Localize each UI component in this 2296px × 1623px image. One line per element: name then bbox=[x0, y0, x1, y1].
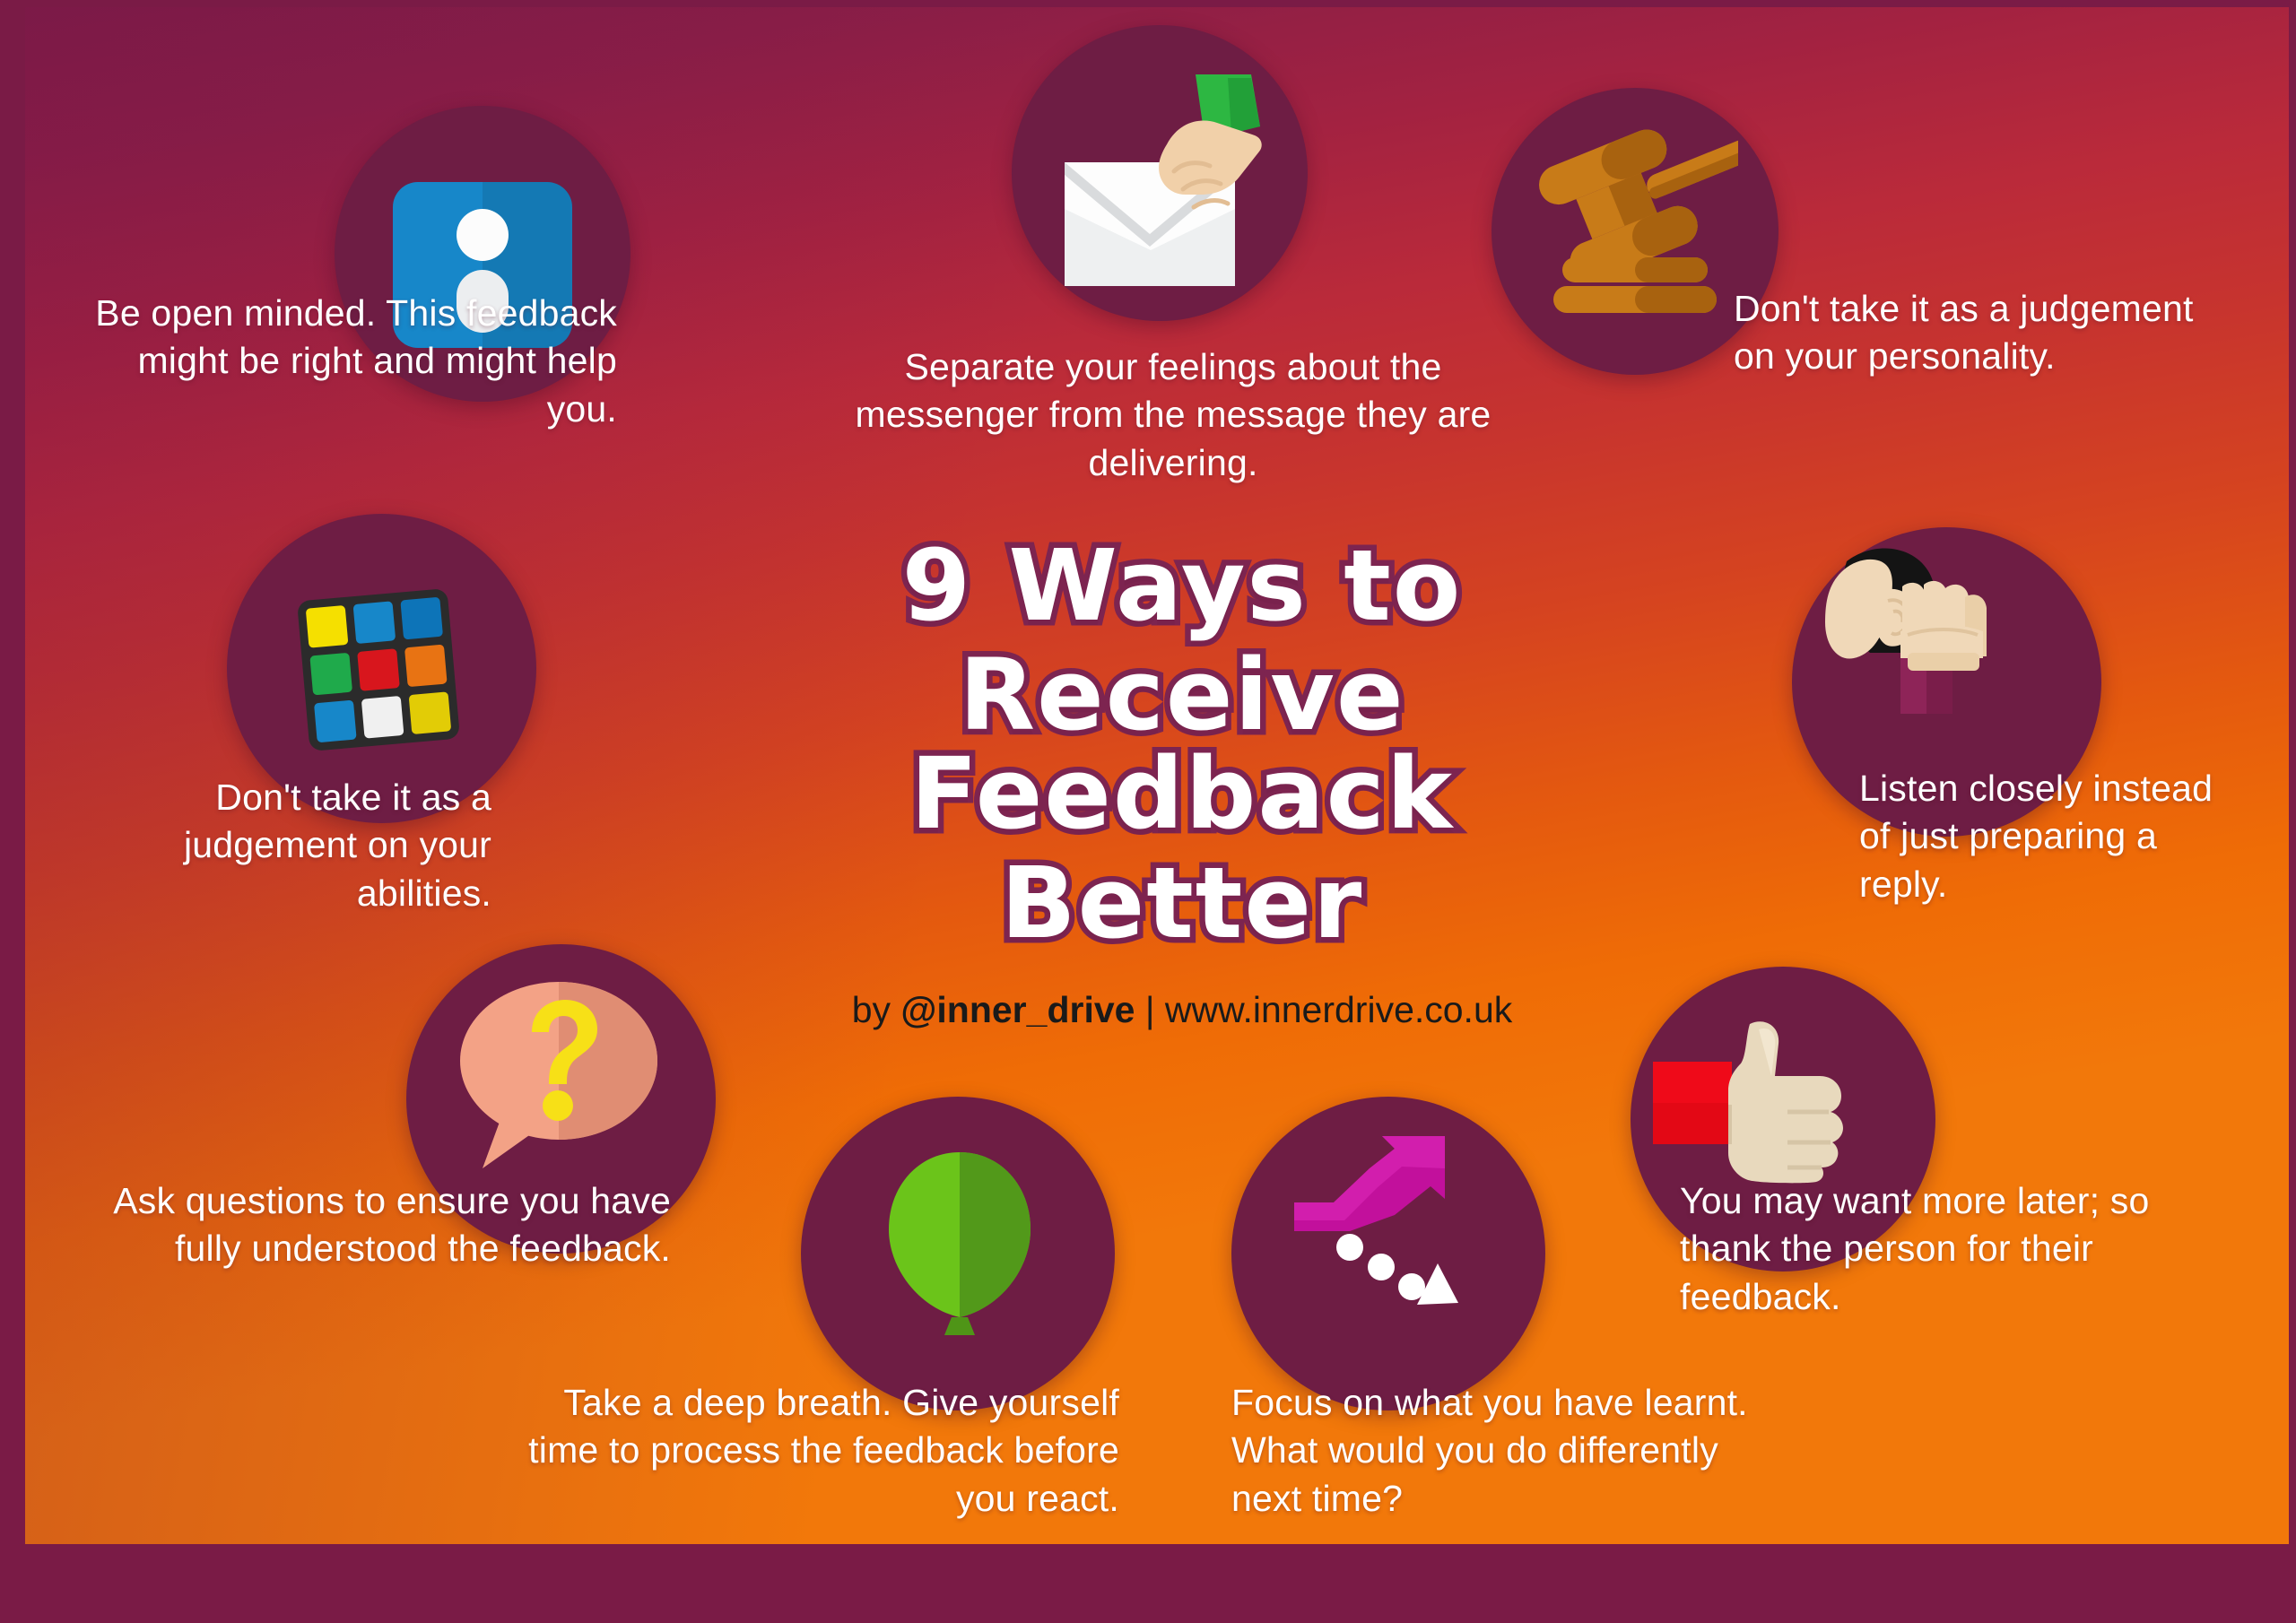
envelope-in-hand-icon bbox=[1061, 74, 1276, 299]
byline-url: www.innerdrive.co.uk bbox=[1165, 989, 1512, 1030]
tip-caption-thank-person: You may want more later; so thank the pe… bbox=[1680, 1177, 2236, 1321]
up-down-arrows-icon bbox=[1294, 1133, 1487, 1316]
gavel-icon bbox=[1532, 128, 1738, 317]
tip-caption-not-personality: Don't take it as a judgement on your per… bbox=[1734, 285, 2200, 381]
tip-caption-listen-closely: Listen closely instead of just preparing… bbox=[1859, 765, 2254, 908]
byline: by @inner_drive | www.innerdrive.co.uk bbox=[698, 989, 1666, 1031]
poster-canvas: Be open minded. This feedback might be r… bbox=[25, 7, 2289, 1544]
byline-handle: @inner_drive bbox=[900, 989, 1135, 1030]
infographic-poster: Be open minded. This feedback might be r… bbox=[0, 0, 2296, 1623]
tip-caption-focus-learnt: Focus on what you have learnt. What woul… bbox=[1231, 1379, 1770, 1523]
title-line-3: Better bbox=[698, 854, 1666, 952]
tip-caption-ask-questions: Ask questions to ensure you have fully u… bbox=[88, 1177, 671, 1273]
thumbs-up-icon bbox=[1653, 1020, 1859, 1186]
byline-prefix: by bbox=[852, 989, 901, 1030]
title-line-2: Receive Feedback bbox=[698, 646, 1666, 843]
hand-to-ear-icon bbox=[1814, 545, 2021, 751]
tip-caption-deep-breath: Take a deep breath. Give yourself time t… bbox=[491, 1379, 1119, 1523]
tip-caption-separate-feelings: Separate your feelings about the messeng… bbox=[850, 343, 1496, 487]
tip-caption-not-abilities: Don't take it as a judgement on your abi… bbox=[106, 774, 491, 917]
rubiks-cube-icon bbox=[297, 588, 460, 751]
tip-caption-open-minded: Be open minded. This feedback might be r… bbox=[79, 290, 617, 433]
question-speech-bubble-icon bbox=[456, 980, 662, 1173]
poster-title: 9 Ways to Receive Feedback Better bbox=[698, 536, 1666, 952]
byline-separator: | bbox=[1135, 989, 1164, 1030]
title-line-1: 9 Ways to bbox=[698, 536, 1666, 635]
balloon-icon bbox=[882, 1150, 1039, 1339]
